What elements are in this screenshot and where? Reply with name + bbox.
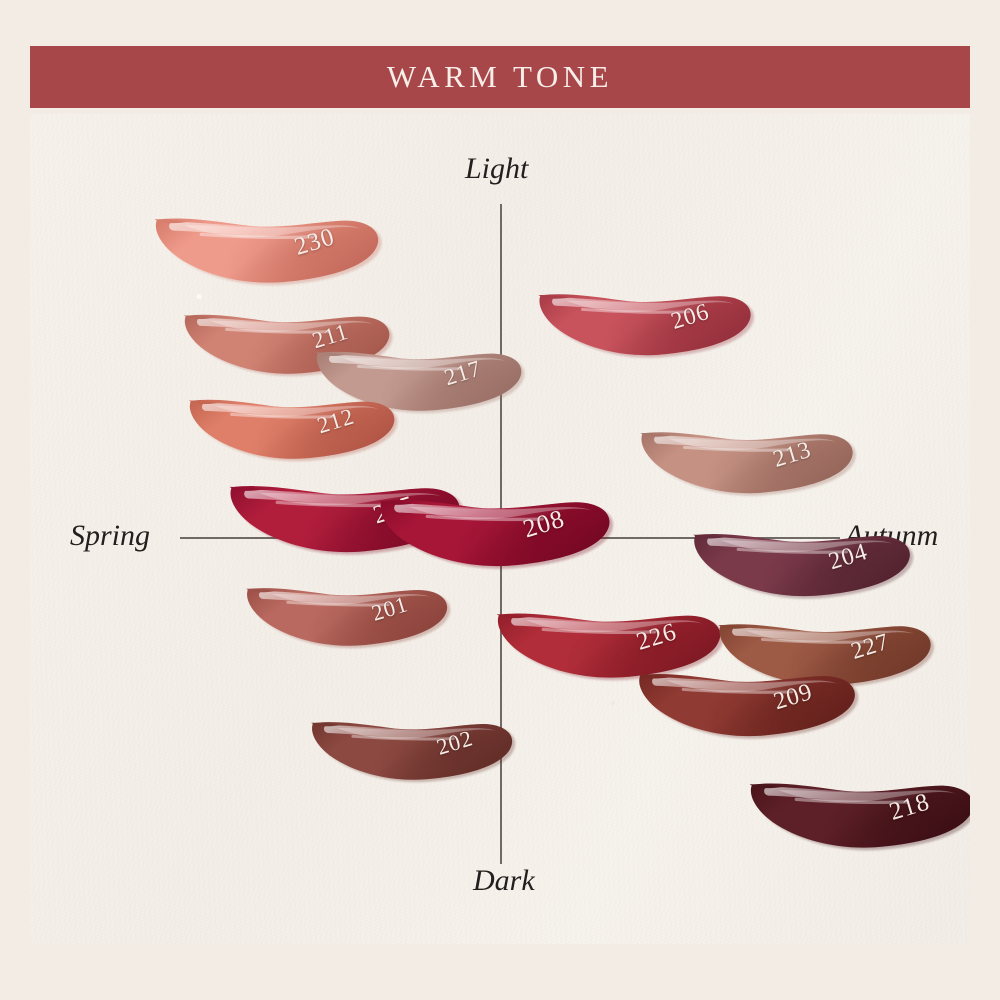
swatch-depth-206 xyxy=(537,238,756,390)
swatch-chart-area: Light Dark Spring Autunm xyxy=(30,114,970,944)
lipstick-swatch-202[interactable]: 202 xyxy=(296,653,530,818)
lipstick-swatch-206[interactable]: 206 xyxy=(522,222,769,396)
swatch-depth-202 xyxy=(310,669,518,813)
header-banner: WARM TONE xyxy=(30,46,970,108)
axis-label-spring: Spring xyxy=(70,519,150,553)
swatch-depth-218 xyxy=(748,724,970,884)
axis-label-light: Light xyxy=(465,152,528,186)
page-title: WARM TONE xyxy=(387,59,613,95)
warm-tone-poster: WARM TONE Light Dark Spring Autunm xyxy=(0,0,1000,1000)
axis-label-dark: Dark xyxy=(473,864,535,898)
